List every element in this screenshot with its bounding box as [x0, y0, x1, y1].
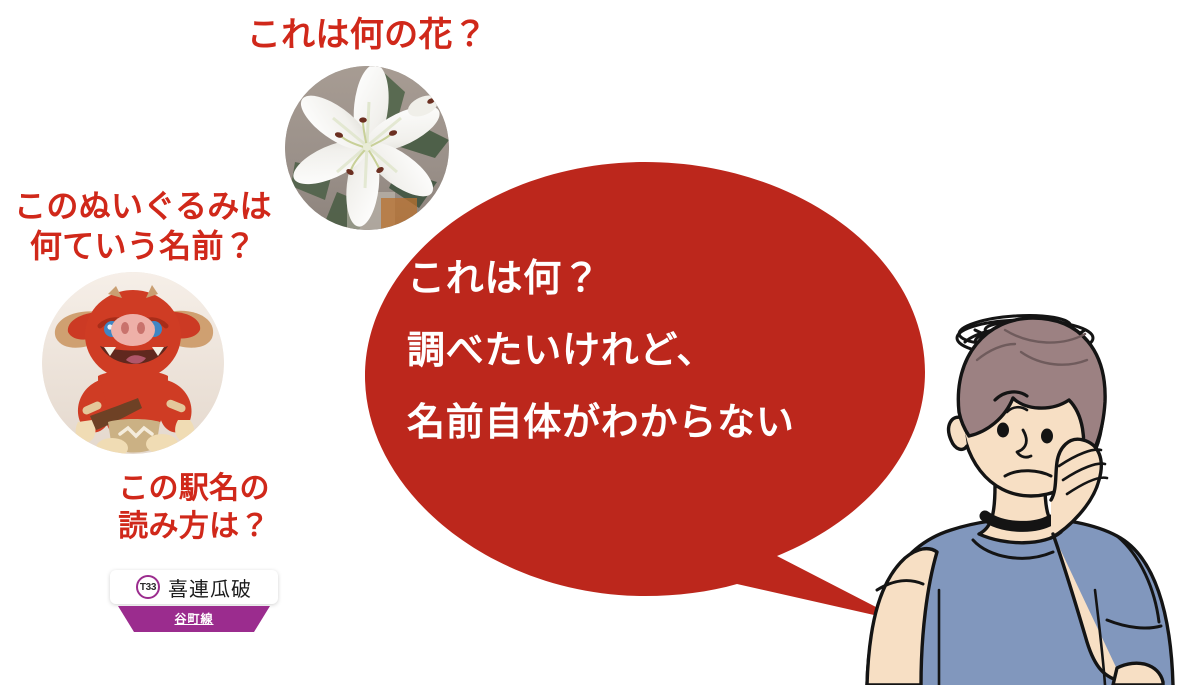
caption-flower: これは何の花？ — [232, 14, 502, 57]
caption-station: この駅名の 読み方は？ — [78, 470, 310, 545]
caption-plush: このぬいぐるみは 何ていう名前？ — [0, 186, 286, 266]
speech-bubble-line-1: これは何？ — [407, 260, 877, 298]
station-name-label: 喜連瓜破 — [168, 573, 252, 602]
slide-canvas: これは何の花？ — [0, 0, 1200, 685]
station-sign-card: T33 喜連瓜破 — [110, 570, 278, 604]
station-line-label: 谷町線 — [118, 606, 270, 632]
speech-bubble-line-3: 名前自体がわからない — [407, 404, 877, 442]
speech-bubble-line-2: 調べたいけれど、 — [407, 332, 877, 370]
station-sign: T33 喜連瓜破 谷町線 — [110, 570, 278, 632]
station-number-badge: T33 — [136, 575, 160, 599]
station-line-banner: 谷町線 — [118, 606, 270, 632]
speech-bubble-text: これは何？ 調べたいけれど、 名前自体がわからない — [407, 260, 877, 442]
plush-photo-illustration — [42, 272, 224, 454]
worried-person-graphic — [855, 290, 1200, 685]
photo-plush — [42, 272, 224, 454]
person-illustration — [855, 290, 1200, 685]
